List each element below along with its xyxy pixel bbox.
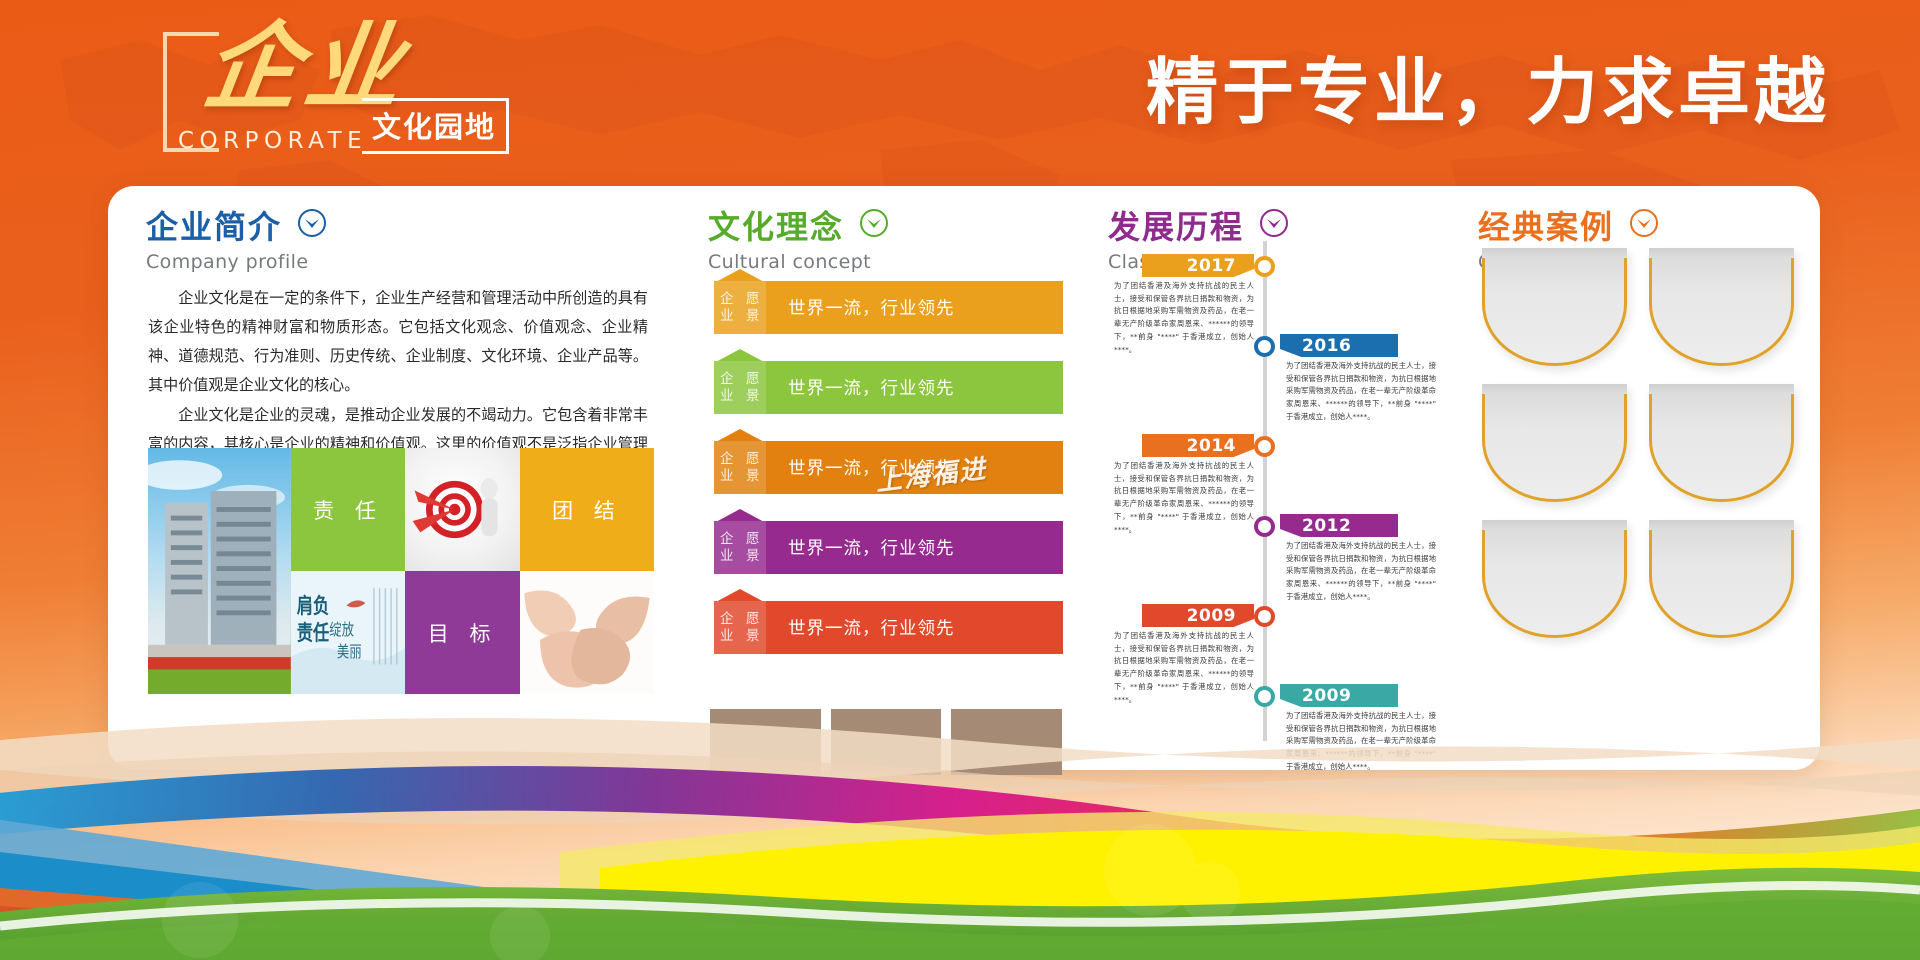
mosaic-label: 团 结	[520, 495, 654, 525]
cultural-concept-title-cn: 文化理念	[708, 210, 844, 245]
up-arrow-icon	[714, 348, 766, 362]
timeline-year-badge: 2014	[1142, 434, 1254, 457]
case-placeholder[interactable]	[1649, 248, 1794, 366]
page-headline: 精于专业，力求卓越	[1146, 52, 1830, 131]
up-arrow-icon	[714, 588, 766, 602]
timeline-year-badge: 2016	[1280, 334, 1398, 357]
case-placeholder[interactable]	[1649, 384, 1794, 502]
timeline-dot	[1254, 686, 1275, 707]
case-placeholder-grid	[1482, 248, 1794, 638]
company-profile-heading: 企业简介 Company profile	[146, 208, 327, 273]
chevron-down-icon	[859, 208, 889, 242]
decorative-wave-ribbons	[0, 620, 1920, 960]
vision-tab-label: 企业愿景	[714, 521, 766, 574]
vision-banner-text: 世界一流，行业领先	[766, 521, 1063, 574]
development-history-title-cn: 发展历程	[1108, 210, 1244, 245]
target-arrows-icon	[405, 448, 520, 571]
vision-banner[interactable]: 企业愿景世界一流，行业领先	[708, 361, 1063, 414]
timeline-dot	[1254, 516, 1275, 537]
vision-tab-label: 企业愿景	[714, 441, 766, 494]
timeline-dot	[1254, 336, 1275, 357]
cultural-concept-heading: 文化理念 Cultural concept	[708, 208, 889, 273]
case-placeholder[interactable]	[1482, 248, 1627, 366]
company-profile-title-cn: 企业简介	[146, 210, 282, 245]
vision-banner-text: 世界一流，行业领先	[766, 281, 1063, 334]
profile-paragraph: 企业文化是在一定的条件下，企业生产经营和管理活动中所创造的具有该企业特色的精神财…	[148, 284, 648, 400]
up-arrow-icon	[714, 268, 766, 282]
up-arrow-icon	[714, 428, 766, 442]
up-arrow-icon	[714, 508, 766, 522]
logo-tagline-box: 文化园地	[362, 98, 509, 154]
vision-banner[interactable]: 企业愿景世界一流，行业领先	[708, 521, 1063, 574]
vision-tab-label: 企业愿景	[714, 281, 766, 334]
mosaic-label: 责 任	[291, 495, 406, 525]
chevron-down-icon	[1629, 208, 1659, 242]
vision-banner[interactable]: 企业愿景世界一流，行业领先	[708, 281, 1063, 334]
svg-text:肩负: 肩负	[296, 594, 328, 619]
timeline-dot	[1254, 436, 1275, 457]
page-header: 企业 CORPORATE 文化园地 精于专业，力求卓越	[0, 0, 1920, 190]
case-placeholder[interactable]	[1482, 384, 1627, 502]
chevron-down-icon	[1259, 208, 1289, 242]
logo-tagline-text: 文化园地	[372, 110, 496, 144]
company-profile-title-en: Company profile	[146, 251, 327, 273]
timeline-entry-text: 为了团结香港及海外支持抗战的民主人士，接受和保管各界抗日捐款和物资，为抗日根据地…	[1114, 280, 1254, 356]
vision-banner-text: 世界一流，行业领先	[766, 361, 1063, 414]
vision-banner[interactable]: 企业愿景世界一流，行业领先	[708, 441, 1063, 494]
mosaic-tile-responsibility: 责 任	[291, 448, 406, 571]
vision-banner-text: 世界一流，行业领先	[766, 441, 1063, 494]
timeline-dot	[1254, 256, 1275, 277]
mosaic-tile-unity: 团 结	[520, 448, 654, 571]
timeline-dot	[1254, 606, 1275, 627]
timeline-year-badge: 2012	[1280, 514, 1398, 537]
logo-english-label: CORPORATE	[178, 128, 367, 154]
classic-cases-title-cn: 经典案例	[1478, 210, 1614, 245]
chevron-down-icon	[297, 208, 327, 242]
mosaic-tile-target-photo	[405, 448, 520, 571]
vision-tab-label: 企业愿景	[714, 361, 766, 414]
timeline-entry-text: 为了团结香港及海外支持抗战的民主人士，接受和保管各界抗日捐款和物资，为抗日根据地…	[1286, 540, 1436, 604]
timeline-entry-text: 为了团结香港及海外支持抗战的民主人士，接受和保管各界抗日捐款和物资，为抗日根据地…	[1286, 360, 1436, 424]
timeline-year-badge: 2017	[1142, 254, 1254, 277]
timeline-entry-text: 为了团结香港及海外支持抗战的民主人士，接受和保管各界抗日捐款和物资，为抗日根据地…	[1114, 460, 1254, 536]
